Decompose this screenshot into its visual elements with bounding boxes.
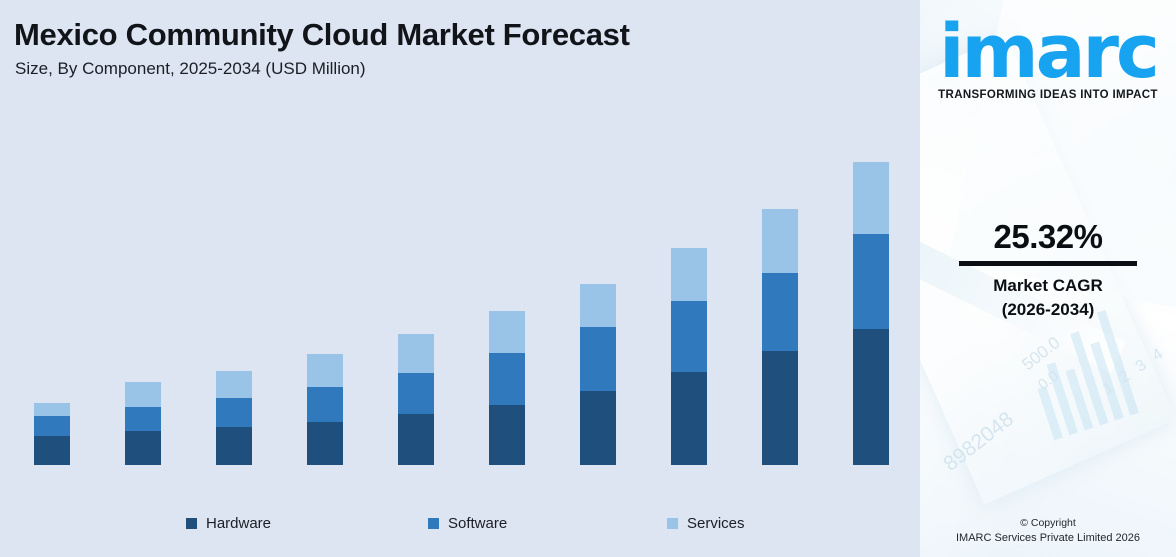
bar-segment-hardware[interactable] xyxy=(34,436,70,465)
stacked-bar[interactable] xyxy=(671,248,707,465)
legend-label: Services xyxy=(687,515,745,532)
bar-segment-services[interactable] xyxy=(216,371,252,398)
bar-segment-software[interactable] xyxy=(762,273,798,351)
chart-screenshot: Mexico Community Cloud Market Forecast S… xyxy=(0,0,1176,557)
cagr-callout: 25.32% Market CAGR (2026-2034) xyxy=(920,218,1176,320)
bar-segment-software[interactable] xyxy=(34,416,70,436)
chart-panel: Mexico Community Cloud Market Forecast S… xyxy=(0,0,920,557)
copyright-line-1: © Copyright xyxy=(920,516,1176,531)
cagr-label: Market CAGR xyxy=(920,276,1176,296)
bar-segment-services[interactable] xyxy=(34,403,70,416)
bar-segment-software[interactable] xyxy=(580,327,616,391)
bar-segment-hardware[interactable] xyxy=(853,329,889,465)
bar-segment-hardware[interactable] xyxy=(580,391,616,465)
stacked-bar[interactable] xyxy=(125,382,161,465)
bar-segment-services[interactable] xyxy=(398,334,434,373)
cagr-divider xyxy=(959,261,1137,266)
bar-segment-hardware[interactable] xyxy=(762,351,798,465)
bar-segment-services[interactable] xyxy=(853,162,889,234)
bar-segment-hardware[interactable] xyxy=(125,431,161,465)
cagr-value: 25.32% xyxy=(920,218,1176,256)
bar-segment-software[interactable] xyxy=(307,387,343,422)
cagr-period: (2026-2034) xyxy=(920,300,1176,320)
bar-segment-hardware[interactable] xyxy=(307,422,343,465)
legend-item-services[interactable]: Services xyxy=(667,515,745,532)
bar-segment-hardware[interactable] xyxy=(398,414,434,465)
imarc-logo: imarc TRANSFORMING IDEAS INTO IMPACT xyxy=(920,18,1176,101)
stacked-bar[interactable] xyxy=(853,162,889,465)
brand-panel: 8982048 500.0 0.0 1234 imarc TRANSFORMIN… xyxy=(920,0,1176,557)
stacked-bar[interactable] xyxy=(489,311,525,465)
copyright-line-2: IMARC Services Private Limited 2026 xyxy=(920,531,1176,547)
bar-segment-services[interactable] xyxy=(489,311,525,353)
logo-wordmark: imarc xyxy=(939,18,1157,86)
page-subtitle: Size, By Component, 2025-2034 (USD Milli… xyxy=(15,59,366,79)
bar-segment-software[interactable] xyxy=(671,301,707,372)
bar-segment-hardware[interactable] xyxy=(216,427,252,465)
bar-segment-services[interactable] xyxy=(762,209,798,273)
bar-segment-services[interactable] xyxy=(307,354,343,387)
bar-segment-software[interactable] xyxy=(489,353,525,405)
legend-swatch-icon xyxy=(428,518,439,529)
bar-segment-software[interactable] xyxy=(398,373,434,414)
legend-label: Software xyxy=(448,515,507,532)
stacked-bar[interactable] xyxy=(580,284,616,465)
stacked-bar[interactable] xyxy=(398,334,434,465)
legend-swatch-icon xyxy=(186,518,197,529)
copyright-notice: © Copyright IMARC Services Private Limit… xyxy=(920,516,1176,547)
bar-segment-hardware[interactable] xyxy=(489,405,525,465)
bar-segment-software[interactable] xyxy=(853,234,889,329)
legend-label: Hardware xyxy=(206,515,271,532)
legend-swatch-icon xyxy=(667,518,678,529)
stacked-bar[interactable] xyxy=(34,403,70,465)
page-title: Mexico Community Cloud Market Forecast xyxy=(14,17,630,53)
bar-segment-hardware[interactable] xyxy=(671,372,707,465)
bar-segment-software[interactable] xyxy=(125,407,161,431)
stacked-bar[interactable] xyxy=(762,209,798,465)
stacked-bar[interactable] xyxy=(307,354,343,465)
chart-legend: HardwareSoftwareServices xyxy=(0,515,920,547)
stacked-bar[interactable] xyxy=(216,371,252,465)
bar-segment-services[interactable] xyxy=(671,248,707,301)
bar-segment-services[interactable] xyxy=(125,382,161,407)
bar-segment-software[interactable] xyxy=(216,398,252,427)
plot-area: 110.020252026202720282029203020312032203… xyxy=(0,100,920,465)
bar-segment-services[interactable] xyxy=(580,284,616,327)
legend-item-software[interactable]: Software xyxy=(428,515,507,532)
legend-item-hardware[interactable]: Hardware xyxy=(186,515,271,532)
